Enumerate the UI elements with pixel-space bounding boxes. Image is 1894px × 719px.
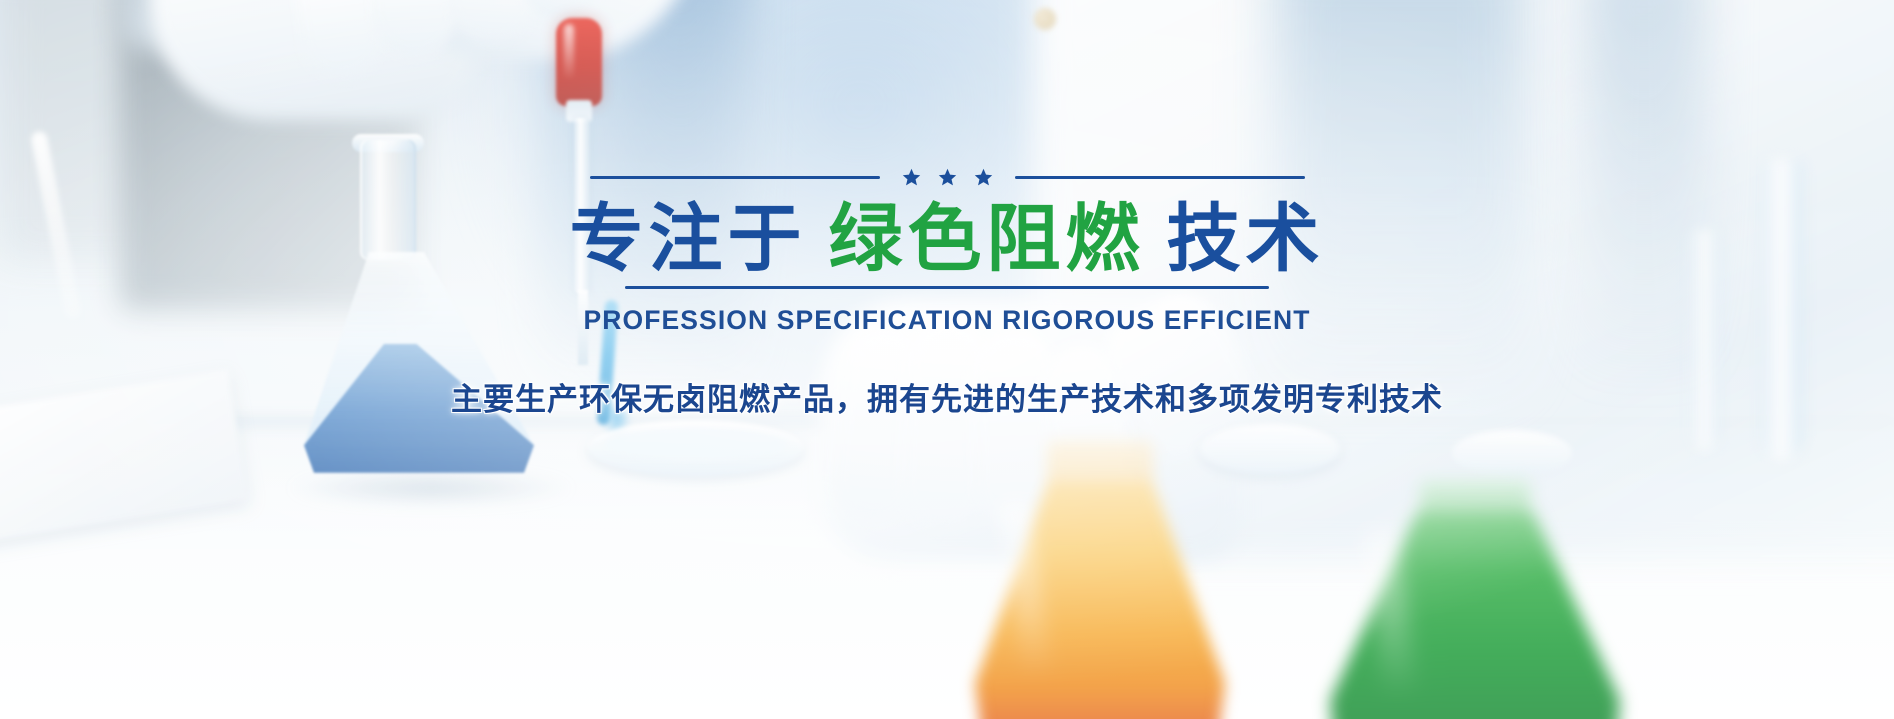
- star-icon: [938, 168, 957, 187]
- star-group: [880, 168, 1015, 187]
- star-icon: [902, 168, 921, 187]
- decorative-divider: [590, 168, 1305, 187]
- divider-line-left: [590, 176, 880, 179]
- star-icon: [974, 168, 993, 187]
- hero-banner: 专注于绿色阻燃技术 PROFESSION SPECIFICATION RIGOR…: [0, 0, 1894, 719]
- banner-content: 专注于绿色阻燃技术 PROFESSION SPECIFICATION RIGOR…: [0, 0, 1894, 719]
- divider-line-right: [1015, 176, 1305, 179]
- headline-part-1: 专注于: [570, 196, 807, 282]
- banner-tagline: 主要生产环保无卤阻燃产品，拥有先进的生产技术和多项发明专利技术: [451, 374, 1443, 419]
- page-title: 专注于绿色阻燃技术: [570, 201, 1325, 278]
- headline-part-2: 绿色阻燃: [829, 196, 1145, 282]
- headline-underline: [625, 286, 1269, 289]
- english-subtitle: PROFESSION SPECIFICATION RIGOROUS EFFICI…: [583, 305, 1310, 336]
- headline-part-3: 技术: [1167, 196, 1325, 282]
